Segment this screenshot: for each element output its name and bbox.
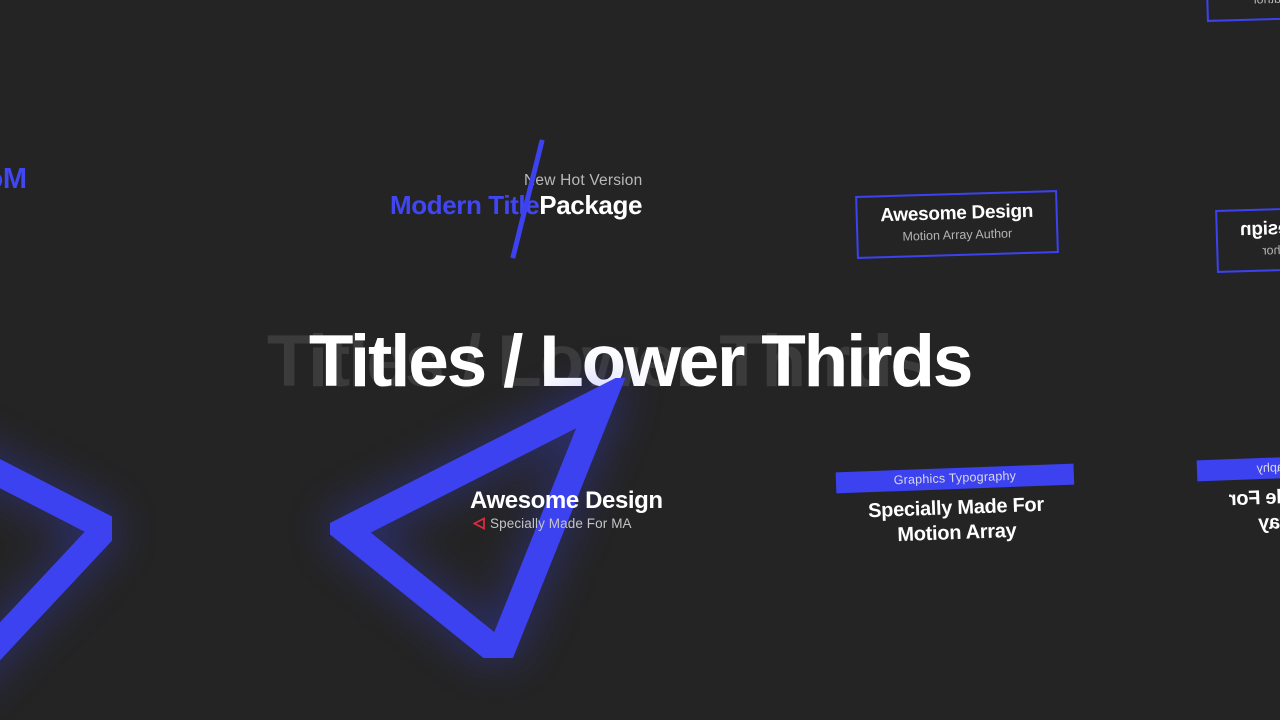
boxed-card-mirror-subtitle: Motion Array Author <box>1218 239 1280 259</box>
modern-title-name-white: Package <box>539 190 642 220</box>
boxed-card-title: Awesome Design <box>857 200 1056 228</box>
modern-title-name-blue: Modern Title <box>390 190 539 220</box>
modern-title-name: Modern TitlePackage <box>390 190 642 221</box>
graphics-typography-block-mirror: Graphics Typography Specially Made For M… <box>1197 452 1280 541</box>
graphics-typography-block: Graphics Typography Specially Made For M… <box>836 464 1077 553</box>
boxed-card-subtitle: Motion Array Author <box>858 225 1056 245</box>
modern-title-mirror-fragment: Moder <box>0 163 27 196</box>
page-title: Titles / Lower Thirds <box>0 318 1280 406</box>
boxed-card-topright-subtitle: Motion Array Author <box>1208 0 1280 8</box>
play-triangle-left-icon <box>473 517 486 530</box>
typography-headline-mirror-line1: Specially Made For <box>1198 480 1280 514</box>
lockup-subtitle-row: Specially Made For MA <box>473 516 632 531</box>
typography-headline: Specially Made For Motion Array <box>837 492 1077 551</box>
lockup-title: Awesome Design <box>470 487 663 515</box>
triangle-outline-icon-left <box>0 400 112 690</box>
awesome-design-boxed-card-topright: Awesome Design Motion Array Author <box>1205 0 1280 22</box>
lockup-subtitle: Specially Made For MA <box>490 516 632 531</box>
awesome-design-boxed-card-mirror: Awesome Design Motion Array Author <box>1215 204 1280 273</box>
awesome-design-boxed-card: Awesome Design Motion Array Author <box>855 190 1059 259</box>
typography-headline-mirror: Specially Made For Motion Array <box>1198 480 1280 539</box>
main-title-block: Titles / Lower Thirds Titles / Lower Thi… <box>0 318 1280 413</box>
boxed-card-mirror-title: Awesome Design <box>1217 214 1280 242</box>
modern-title-package-lockup: New Hot Version Modern TitlePackage <box>383 160 683 230</box>
titles-lower-thirds-canvas: Moder New Hot Version Modern TitlePackag… <box>0 0 1280 720</box>
modern-title-overline: New Hot Version <box>524 172 642 190</box>
awesome-design-lockup: Awesome Design Specially Made For MA <box>470 487 730 537</box>
triangle-left-svg <box>0 400 112 690</box>
